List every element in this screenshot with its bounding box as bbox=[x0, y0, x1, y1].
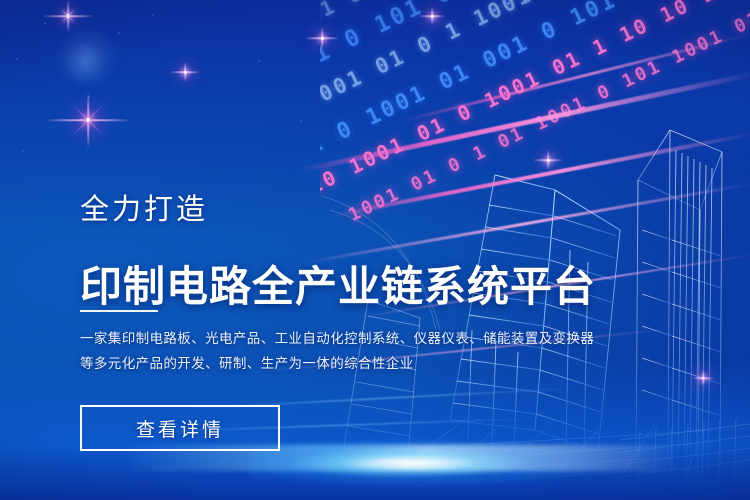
view-details-button[interactable]: 查看详情 bbox=[80, 405, 280, 451]
banner-content: 全力打造 印制电路全产业链系统平台 一家集印制电路板、光电产品、工业自动化控制系… bbox=[80, 0, 600, 500]
banner-description: 一家集印制电路板、光电产品、工业自动化控制系统、仪器仪表、储能装置及变换器 等多… bbox=[80, 326, 550, 376]
description-line-1: 一家集印制电路板、光电产品、工业自动化控制系统、仪器仪表、储能装置及变换器 bbox=[80, 326, 550, 351]
description-line-2: 等多元化产品的开发、研制、生产为一体的综合性企业 bbox=[80, 351, 550, 376]
banner-eyebrow: 全力打造 bbox=[80, 196, 208, 225]
banner-headline: 印制电路全产业链系统平台 bbox=[80, 264, 596, 310]
promo-banner: 10 1001 01 0 1001 01 1 10 10 1001 01 0 1… bbox=[0, 0, 750, 500]
divider-rule bbox=[80, 310, 158, 312]
